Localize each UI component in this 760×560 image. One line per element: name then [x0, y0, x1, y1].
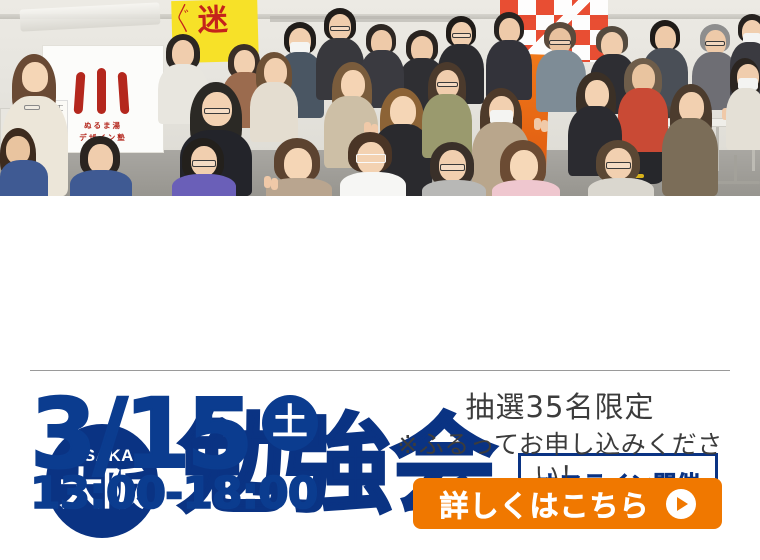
banner-steam-mark: 〴〵: [175, 11, 193, 29]
details-button-label: 詳しくはこちら: [439, 483, 649, 525]
chair: [712, 150, 760, 184]
play-arrow-circle-icon: [666, 489, 696, 519]
event-time-range: 13:00-18:00: [30, 472, 318, 516]
section-divider: [30, 370, 730, 371]
banner-kanji: 迷: [197, 6, 228, 37]
headline-row: OSAKA 大阪 勉強会 オフライン開催: [0, 196, 760, 370]
group-photo: ぬるま湯 デザイン塾 〴〵 迷: [0, 0, 760, 196]
capacity-note: 抽選35名限定: [390, 392, 730, 424]
day-of-week-badge: 土: [262, 395, 318, 451]
event-date-block: 3/15 土 13:00-18:00: [30, 388, 318, 516]
event-date-row: 3/15 土: [30, 388, 318, 480]
event-date: 3/15: [30, 388, 249, 480]
details-button[interactable]: 詳しくはこちら: [413, 478, 722, 529]
cta-text-block: 抽選35名限定 ※ふるってお申し込みください！: [390, 392, 730, 491]
event-banner: ぬるま湯 デザイン塾 〴〵 迷: [0, 0, 760, 560]
onsen-steam-icon: [71, 68, 135, 114]
